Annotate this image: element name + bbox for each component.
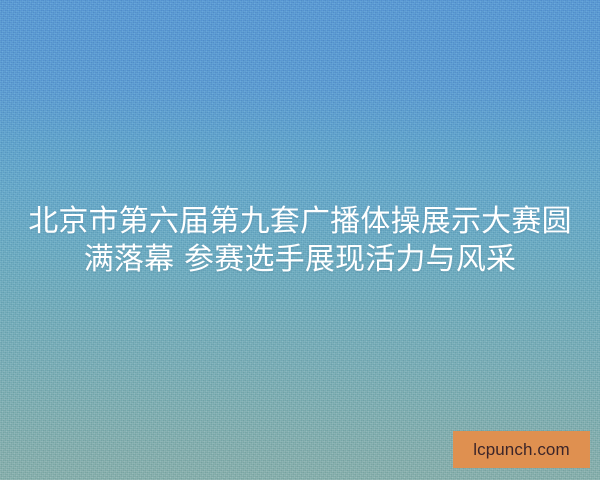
watermark-badge[interactable]: lcpunch.com: [453, 431, 590, 468]
hero-image-card: 北京市第六届第九套广播体操展示大赛圆满落幕 参赛选手展现活力与风采 lcpunc…: [0, 0, 600, 480]
page-title: 北京市第六届第九套广播体操展示大赛圆满落幕 参赛选手展现活力与风采: [22, 203, 578, 279]
watermark-label: lcpunch.com: [473, 441, 570, 458]
